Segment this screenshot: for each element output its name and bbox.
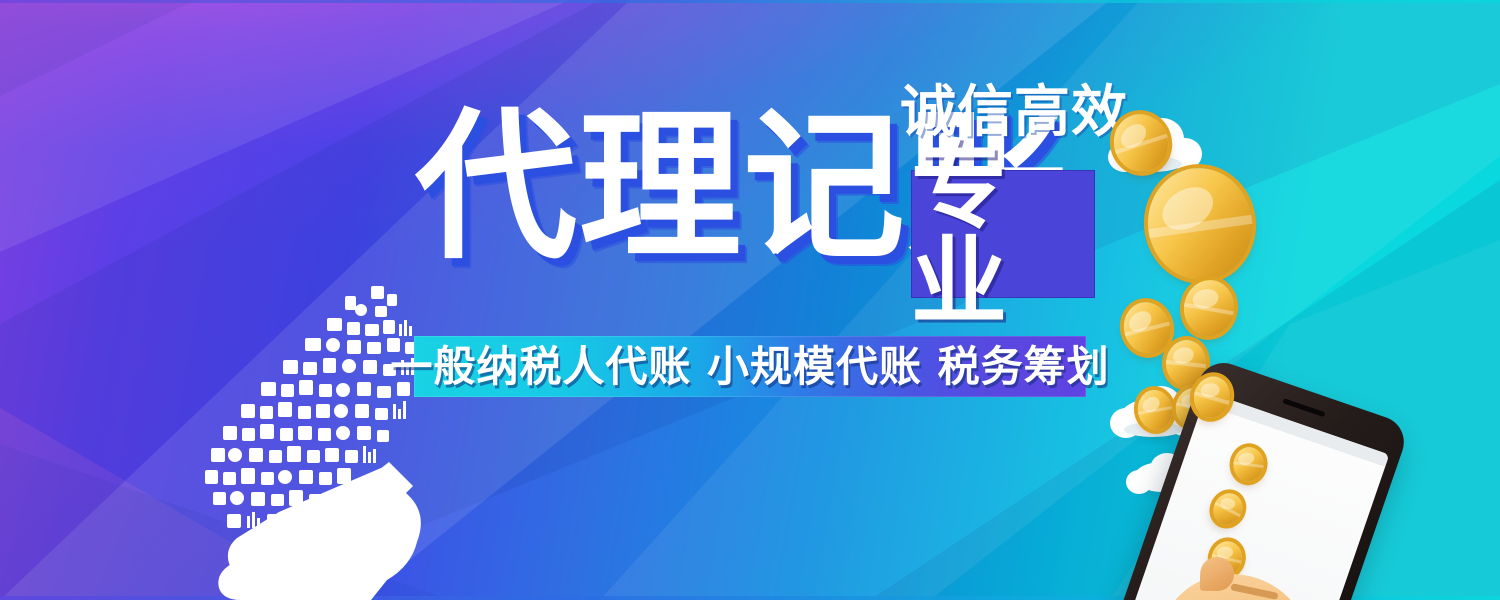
badge-text: 专业 [911, 138, 1095, 330]
megaphone-svg [175, 280, 505, 600]
piggy-ear [1200, 557, 1235, 592]
gold-coin-icon [1232, 446, 1266, 483]
megaphone-icon-cluster [175, 280, 505, 600]
top-edge-strip [0, 0, 1500, 3]
professional-badge: 专业 [911, 170, 1095, 298]
gold-coin-icon [1118, 297, 1175, 359]
gold-coin-icon [1141, 161, 1260, 286]
coins-phone-artwork [1090, 90, 1420, 600]
services-bar: 一般纳税人代账 小规模代账 税务筹划 [414, 336, 1086, 397]
gold-coin-icon [1180, 276, 1239, 340]
services-text: 一般纳税人代账 小规模代账 税务筹划 [390, 346, 1109, 388]
banner-root: 代理记账 诚信高效 专业 一般纳税人代账 小规模代账 税务筹划 [0, 0, 1500, 600]
banner-headline: 代理记账 [415, 78, 915, 298]
gold-coin-icon [1208, 488, 1247, 529]
piggy-slot [1230, 583, 1278, 600]
phone-speaker [1282, 398, 1325, 417]
